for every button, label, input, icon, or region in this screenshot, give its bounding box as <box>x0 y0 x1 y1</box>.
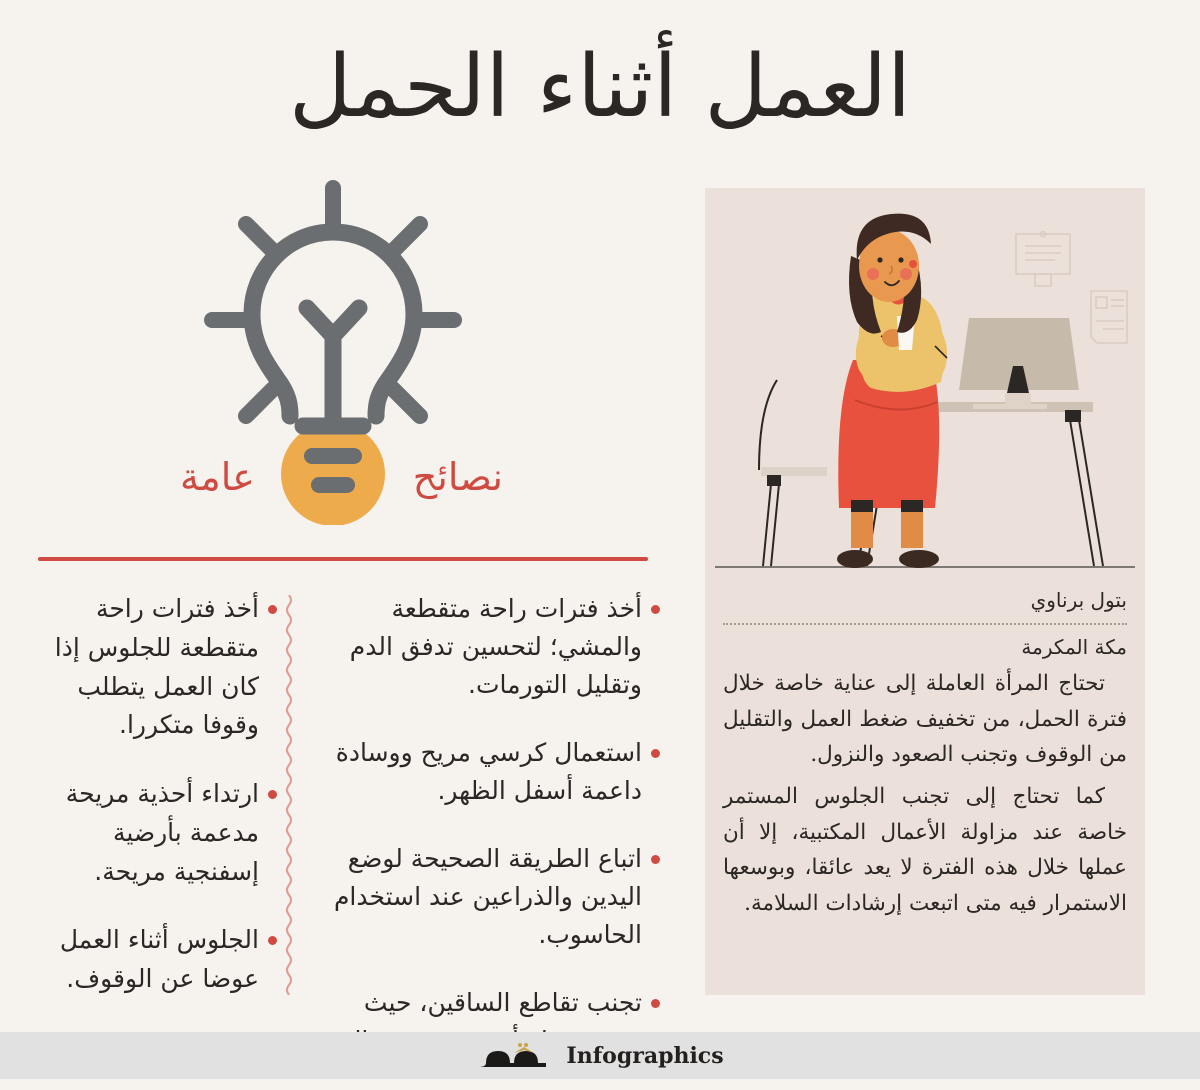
tip-text: أخذ فترات راحة متقطعة للجلوس إذا كان الع… <box>25 590 259 745</box>
tips-column-left: أخذ فترات راحة متقطعة للجلوس إذا كان الع… <box>25 590 277 1029</box>
footer-bar: Infographics <box>0 1032 1200 1079</box>
tips-column-right: أخذ فترات راحة متقطعة والمشي؛ لتحسين تدف… <box>310 590 660 1090</box>
footer-label: Infographics <box>566 1043 723 1069</box>
tip-item: ارتداء أحذية مريحة مدعمة بأرضية إسفنجية … <box>25 775 277 891</box>
tips-section: نصائح عامة أخذ فترات راحة متقطعة والمشي؛… <box>20 175 665 1020</box>
tip-item: أخذ فترات راحة متقطعة للجلوس إذا كان الع… <box>25 590 277 745</box>
tip-item: اتباع الطريقة الصحيحة لوضع اليدين والذرا… <box>310 840 660 954</box>
tip-text: أخذ فترات راحة متقطعة والمشي؛ لتحسين تدف… <box>310 590 642 704</box>
article-body: تحتاج المرأة العاملة إلى عناية خاصة خلال… <box>723 666 1127 922</box>
byline-divider <box>723 623 1127 625</box>
bullet-icon <box>268 605 277 614</box>
tips-columns: أخذ فترات راحة متقطعة والمشي؛ لتحسين تدف… <box>20 590 665 1020</box>
page-title: العمل أثناء الحمل <box>289 34 911 142</box>
tip-text: الجلوس أثناء العمل عوضا عن الوقوف. <box>25 921 259 999</box>
city-name: مكة المكرمة <box>723 633 1127 661</box>
pregnant-woman-at-desk-illustration <box>705 188 1145 580</box>
tips-heading-word-left: عامة <box>180 455 255 499</box>
bullet-icon <box>268 790 277 799</box>
bullet-icon <box>651 999 660 1008</box>
article-panel: بتول برناوي مكة المكرمة تحتاج المرأة الع… <box>705 188 1145 995</box>
tip-item: استعمال كرسي مريح ووسادة داعمة أسفل الظه… <box>310 734 660 810</box>
bullet-icon <box>651 855 660 864</box>
section-divider <box>38 557 648 561</box>
tip-text: اتباع الطريقة الصحيحة لوضع اليدين والذرا… <box>310 840 642 954</box>
bullet-icon <box>651 749 660 758</box>
tip-text: ارتداء أحذية مريحة مدعمة بأرضية إسفنجية … <box>25 775 259 891</box>
author-name: بتول برناوي <box>723 586 1127 614</box>
article-paragraph: كما تحتاج إلى تجنب الجلوس المستمر خاصة ع… <box>723 779 1127 922</box>
makkah-newspaper-logo <box>476 1041 548 1071</box>
tip-item: الجلوس أثناء العمل عوضا عن الوقوف. <box>25 921 277 999</box>
tips-header-block: نصائح عامة <box>20 175 665 550</box>
tip-text: استعمال كرسي مريح ووسادة داعمة أسفل الظه… <box>310 734 642 810</box>
tip-item: أخذ فترات راحة متقطعة والمشي؛ لتحسين تدف… <box>310 590 660 704</box>
bullet-icon <box>268 936 277 945</box>
page-header: العمل أثناء الحمل <box>0 18 1200 158</box>
byline-block: بتول برناوي مكة المكرمة <box>723 586 1127 661</box>
bullet-icon <box>651 605 660 614</box>
tips-heading-word-right: نصائح <box>413 455 503 499</box>
article-paragraph: تحتاج المرأة العاملة إلى عناية خاصة خلال… <box>723 666 1127 773</box>
